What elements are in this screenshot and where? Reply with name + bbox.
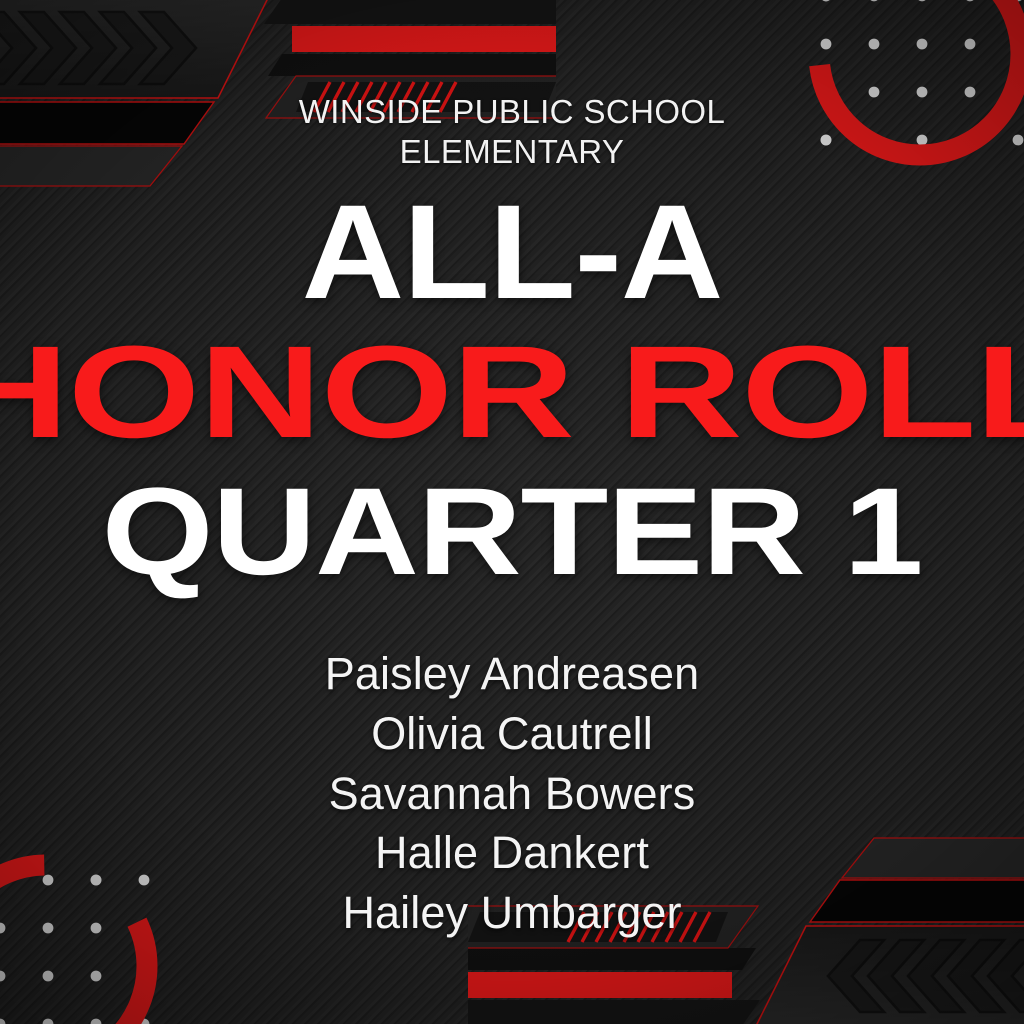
page-title: ALL-A HONOR ROLL QUARTER 1	[0, 189, 1024, 592]
headline-quarter: QUARTER 1	[0, 473, 1024, 592]
honoree-list: Paisley Andreasen Olivia Cautrell Savann…	[72, 644, 952, 943]
headline-all-a: ALL-A	[0, 189, 1024, 318]
list-item: Hailey Umbarger	[72, 883, 952, 943]
list-item: Savannah Bowers	[72, 764, 952, 824]
school-name-line-1: WINSIDE PUBLIC SCHOOL	[132, 92, 892, 132]
school-name-header: WINSIDE PUBLIC SCHOOL ELEMENTARY	[132, 92, 892, 173]
school-name-line-2: ELEMENTARY	[132, 132, 892, 172]
poster-content: WINSIDE PUBLIC SCHOOL ELEMENTARY ALL-A H…	[0, 0, 1024, 1024]
list-item: Olivia Cautrell	[72, 704, 952, 764]
honor-roll-poster: WINSIDE PUBLIC SCHOOL ELEMENTARY ALL-A H…	[0, 0, 1024, 1024]
list-item: Halle Dankert	[72, 823, 952, 883]
list-item: Paisley Andreasen	[72, 644, 952, 704]
headline-honor-roll: HONOR ROLL	[0, 329, 1024, 455]
